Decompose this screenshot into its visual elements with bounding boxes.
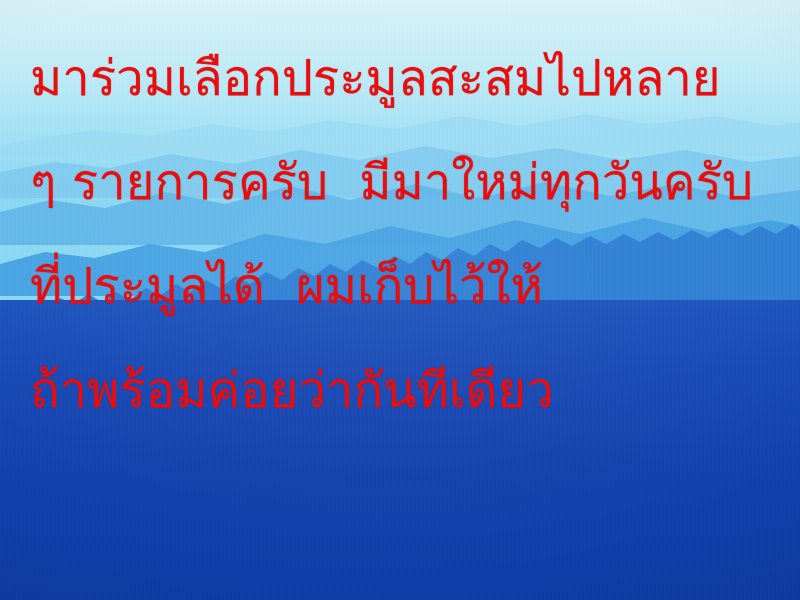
banner-image: มาร่วมเลือกประมูลสะสมไปหลาย ๆ รายการครับ… bbox=[0, 0, 800, 600]
overlay-text-line-1: มาร่วมเลือกประมูลสะสมไปหลาย bbox=[30, 54, 790, 103]
overlay-text-line-3: ที่ประมูลได้ ผมเก็บไว้ให้ bbox=[30, 262, 790, 311]
overlay-text-line-4: ถ้าพร้อมค่อยว่ากันทีเดียว bbox=[30, 366, 790, 415]
overlay-text-line-2: ๆ รายการครับ มีมาใหม่ทุกวันครับ bbox=[30, 158, 790, 207]
overlay-text-block: มาร่วมเลือกประมูลสะสมไปหลาย ๆ รายการครับ… bbox=[0, 0, 800, 600]
